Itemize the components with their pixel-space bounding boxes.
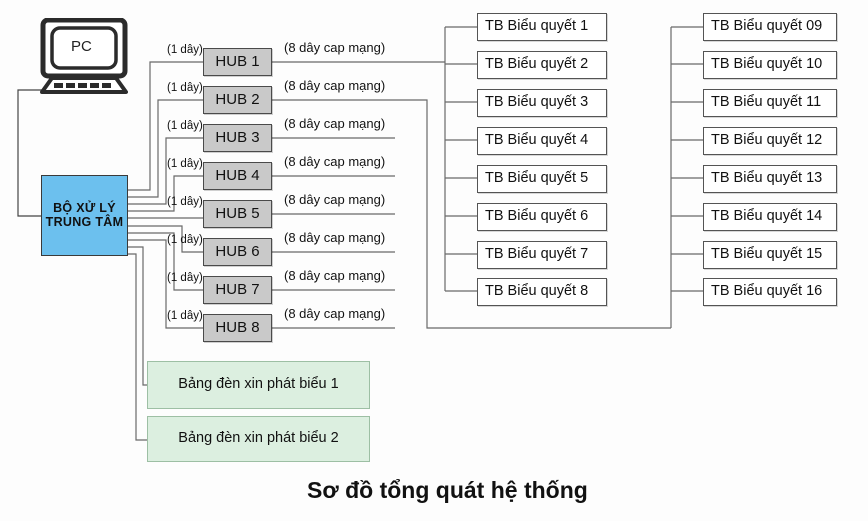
- hub-label: HUB 7: [215, 282, 259, 299]
- terminal-label: TB Biểu quyết 4: [485, 133, 588, 149]
- terminal-box-15[interactable]: TB Biểu quyết 15: [703, 241, 837, 269]
- hub-out-label-5: (8 dây cap mạng): [284, 192, 385, 207]
- hub-out-label-3: (8 dây cap mạng): [284, 116, 385, 131]
- hub-box-5[interactable]: HUB 5: [203, 200, 272, 228]
- hub-box-7[interactable]: HUB 7: [203, 276, 272, 304]
- hub-box-2[interactable]: HUB 2: [203, 86, 272, 114]
- hub-out-label-2: (8 dây cap mạng): [284, 78, 385, 93]
- terminal-box-9[interactable]: TB Biểu quyết 09: [703, 13, 837, 41]
- hub-box-4[interactable]: HUB 4: [203, 162, 272, 190]
- hub-out-label-8: (8 dây cap mạng): [284, 306, 385, 321]
- light-panel-box-1[interactable]: Bảng đèn xin phát biểu 1: [147, 361, 370, 409]
- terminal-label: TB Biểu quyết 1: [485, 19, 588, 35]
- hub-link-label-5: (1 dây): [167, 196, 203, 208]
- terminal-box-2[interactable]: TB Biểu quyết 2: [477, 51, 607, 79]
- terminal-label: TB Biểu quyết 16: [711, 284, 822, 300]
- diagram-title: Sơ đồ tổng quát hệ thống: [307, 477, 588, 504]
- light-panel-box-2[interactable]: Bảng đèn xin phát biểu 2: [147, 416, 370, 462]
- terminal-box-7[interactable]: TB Biểu quyết 7: [477, 241, 607, 269]
- hub-link-label-1: (1 dây): [167, 44, 203, 56]
- terminal-label: TB Biểu quyết 14: [711, 209, 822, 225]
- terminal-label: TB Biểu quyết 6: [485, 209, 588, 225]
- terminal-label: TB Biểu quyết 13: [711, 171, 822, 187]
- hub-label: HUB 6: [215, 244, 259, 261]
- terminal-box-14[interactable]: TB Biểu quyết 14: [703, 203, 837, 231]
- terminal-box-6[interactable]: TB Biểu quyết 6: [477, 203, 607, 231]
- hub-label: HUB 3: [215, 130, 259, 147]
- terminal-box-4[interactable]: TB Biểu quyết 4: [477, 127, 607, 155]
- system-diagram: PC BỘ XỬ LÝ TRUNG TÂM HUB 1 HUB 2 HUB 3 …: [0, 0, 868, 521]
- light-panel-label: Bảng đèn xin phát biểu 2: [178, 431, 338, 447]
- hub-label: HUB 8: [215, 320, 259, 337]
- hub-link-label-3: (1 dây): [167, 120, 203, 132]
- terminal-box-11[interactable]: TB Biểu quyết 11: [703, 89, 837, 117]
- terminal-box-16[interactable]: TB Biểu quyết 16: [703, 278, 837, 306]
- terminal-label: TB Biểu quyết 7: [485, 247, 588, 263]
- terminal-box-10[interactable]: TB Biểu quyết 10: [703, 51, 837, 79]
- hub-link-label-7: (1 dây): [167, 272, 203, 284]
- terminal-box-8[interactable]: TB Biểu quyết 8: [477, 278, 607, 306]
- hub-label: HUB 2: [215, 92, 259, 109]
- terminal-box-1[interactable]: TB Biểu quyết 1: [477, 13, 607, 41]
- hub-box-8[interactable]: HUB 8: [203, 314, 272, 342]
- light-panel-label: Bảng đèn xin phát biểu 1: [178, 377, 338, 393]
- terminal-box-3[interactable]: TB Biểu quyết 3: [477, 89, 607, 117]
- hub-label: HUB 1: [215, 54, 259, 71]
- terminal-label: TB Biểu quyết 3: [485, 95, 588, 111]
- hub-box-3[interactable]: HUB 3: [203, 124, 272, 152]
- hub-label: HUB 4: [215, 168, 259, 185]
- terminal-label: TB Biểu quyết 2: [485, 57, 588, 73]
- hub-box-6[interactable]: HUB 6: [203, 238, 272, 266]
- computer-icon: [40, 18, 128, 99]
- hub-link-label-4: (1 dây): [167, 158, 203, 170]
- terminal-box-12[interactable]: TB Biểu quyết 12: [703, 127, 837, 155]
- central-processor-box[interactable]: BỘ XỬ LÝ TRUNG TÂM: [41, 175, 128, 256]
- terminal-label: TB Biểu quyết 10: [711, 57, 822, 73]
- terminal-label: TB Biểu quyết 11: [711, 95, 821, 111]
- hub-link-label-6: (1 dây): [167, 234, 203, 246]
- terminal-label: TB Biểu quyết 09: [711, 19, 822, 35]
- terminal-label: TB Biểu quyết 12: [711, 133, 822, 149]
- terminal-label: TB Biểu quyết 15: [711, 247, 822, 263]
- hub-label: HUB 5: [215, 206, 259, 223]
- terminal-label: TB Biểu quyết 8: [485, 284, 588, 300]
- terminal-label: TB Biểu quyết 5: [485, 171, 588, 187]
- cpu-line-2: TRUNG TÂM: [46, 216, 124, 230]
- hub-out-label-4: (8 dây cap mạng): [284, 154, 385, 169]
- hub-link-label-8: (1 dây): [167, 310, 203, 322]
- terminal-box-13[interactable]: TB Biểu quyết 13: [703, 165, 837, 193]
- terminal-box-5[interactable]: TB Biểu quyết 5: [477, 165, 607, 193]
- hub-box-1[interactable]: HUB 1: [203, 48, 272, 76]
- hub-link-label-2: (1 dây): [167, 82, 203, 94]
- hub-out-label-6: (8 dây cap mạng): [284, 230, 385, 245]
- pc-label: PC: [71, 38, 92, 55]
- hub-out-label-7: (8 dây cap mạng): [284, 268, 385, 283]
- hub-out-label-1: (8 dây cap mạng): [284, 40, 385, 55]
- cpu-line-1: BỘ XỬ LÝ: [53, 202, 116, 216]
